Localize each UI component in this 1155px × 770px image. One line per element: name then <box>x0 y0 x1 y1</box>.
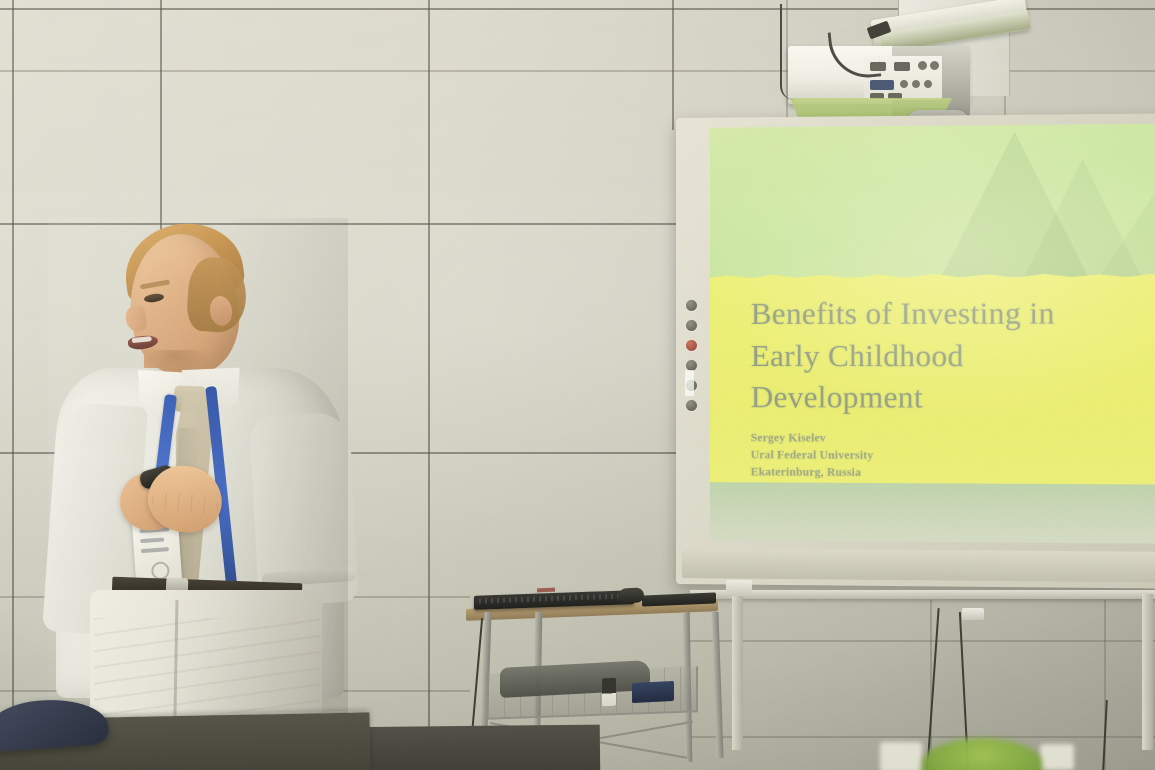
slide-title-line-2: Early Childhood <box>751 334 1155 377</box>
presentation-slide: Benefits of Investing in Early Childhood… <box>710 124 1155 544</box>
wall-seam <box>160 0 162 232</box>
whiteboard-red-pen-button[interactable] <box>686 340 697 351</box>
mouse[interactable] <box>618 587 644 603</box>
whiteboard-bottom-rail <box>682 548 1155 582</box>
slide-green-band <box>710 124 1155 285</box>
whiteboard-eraser-button[interactable] <box>686 400 697 411</box>
badge-text-line <box>140 537 164 543</box>
interactive-whiteboard[interactable]: Benefits of Investing in Early Childhood… <box>676 113 1155 588</box>
blurred-white-object <box>880 742 922 770</box>
whiteboard-pen-button[interactable] <box>686 320 697 331</box>
slide-location: Ekaterinburg, Russia <box>751 464 1155 483</box>
photo-scene: Benefits of Investing in Early Childhood… <box>0 0 1155 770</box>
wall-seam <box>428 0 430 770</box>
whiteboard-wall-rail <box>690 580 1155 660</box>
rail-post <box>1142 594 1153 750</box>
wall-seam <box>690 736 1155 738</box>
port-hdmi-icon <box>894 62 910 71</box>
projection-surface[interactable]: Benefits of Investing in Early Childhood… <box>710 124 1155 544</box>
cart-bottle <box>602 678 616 707</box>
slide-title-line-3: Development <box>751 377 1155 420</box>
whiteboard-pen-button[interactable] <box>686 300 697 311</box>
port-audio-icon <box>930 61 939 70</box>
presenter <box>48 218 348 770</box>
rail-clip <box>962 608 984 620</box>
slide-title-line-1: Benefits of Investing in <box>751 292 1155 335</box>
slide-affiliation: Ural Federal University <box>751 447 1155 466</box>
blurred-white-object <box>1040 744 1074 770</box>
port-rca-icon <box>900 80 908 88</box>
rail-clip <box>726 580 752 596</box>
whiteboard-label-sticker <box>685 370 694 396</box>
cart-leg <box>711 612 723 758</box>
port-rca-icon <box>924 80 932 88</box>
port-vga-blue-icon <box>870 80 894 90</box>
badge-text-line <box>141 547 169 553</box>
rail-bar <box>690 590 1155 599</box>
slide-author: Sergey Kiselev <box>751 431 1155 449</box>
rail-post <box>732 594 743 750</box>
wall-seam <box>672 0 674 130</box>
slide-text-block: Benefits of Investing in Early Childhood… <box>751 292 1155 483</box>
whiteboard-button-strip[interactable] <box>686 300 702 420</box>
wall-seam <box>12 0 14 770</box>
keyboard-indicator <box>537 588 555 593</box>
projector-power-cable <box>780 4 798 100</box>
port-audio-icon <box>918 61 927 70</box>
port-rca-icon <box>912 80 920 88</box>
cart-blue-case <box>632 681 674 703</box>
slide-bottom-band <box>710 483 1155 544</box>
